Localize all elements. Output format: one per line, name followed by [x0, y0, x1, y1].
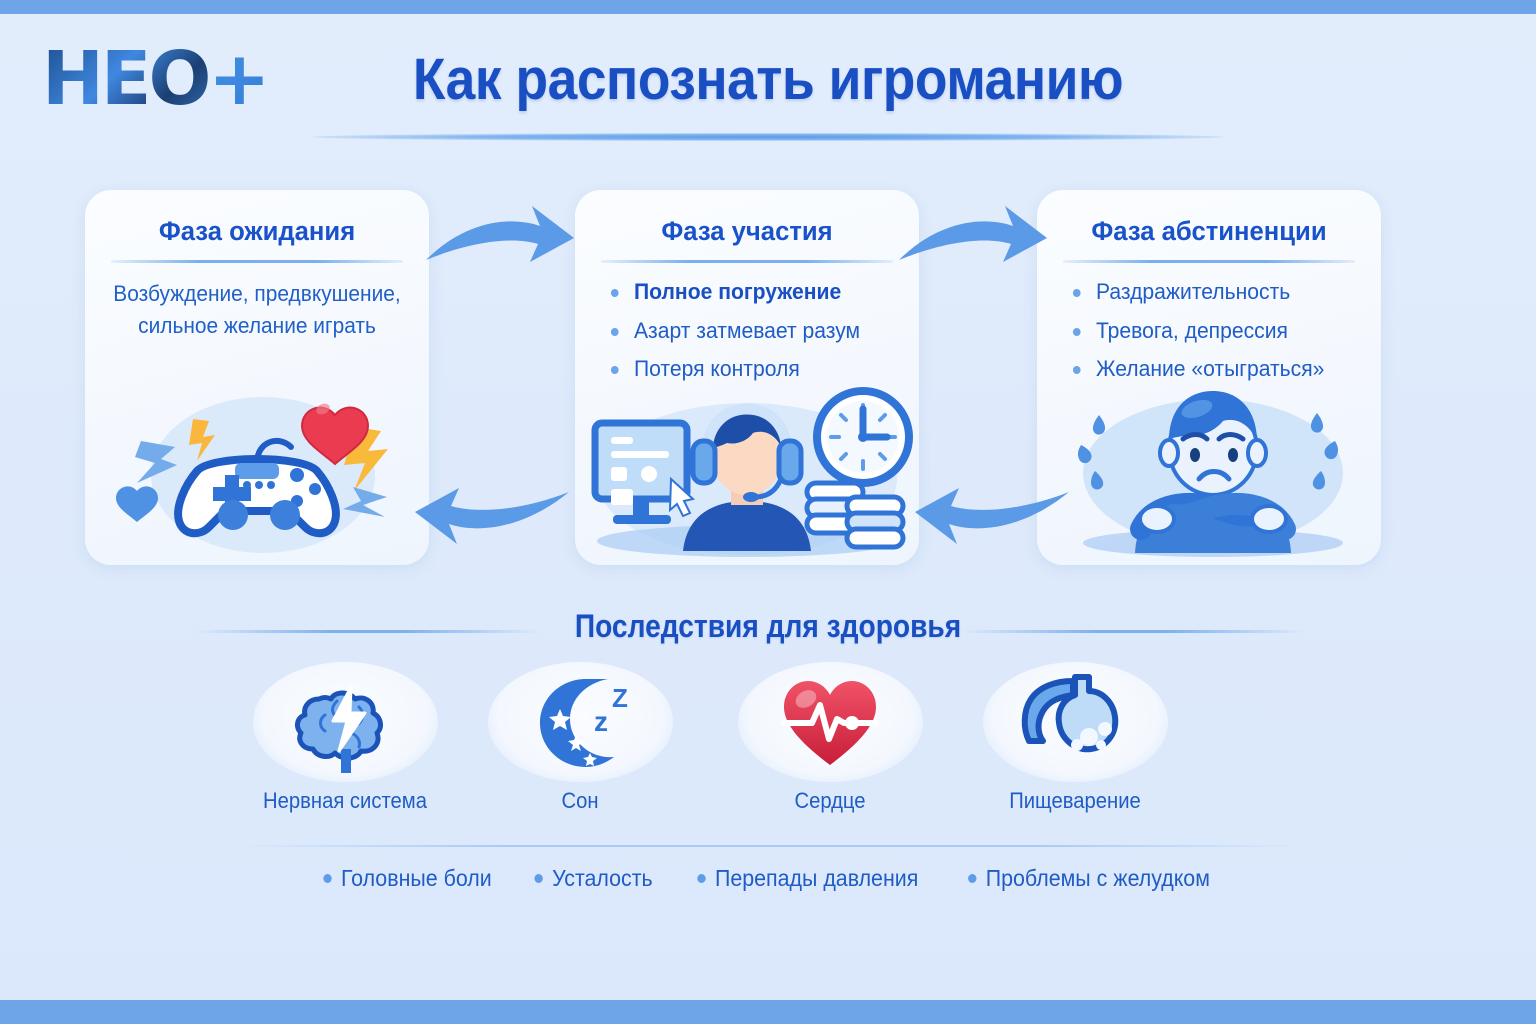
consequence-label: Пищеварение: [965, 788, 1186, 814]
arrow-participation-back-to-anticipation: [405, 472, 575, 557]
symptom-label: Головные боли: [341, 865, 492, 892]
icon-background-blob: [738, 662, 923, 782]
symptom-label: Усталость: [552, 865, 653, 892]
arrow-withdrawal-back-to-participation: [905, 472, 1075, 557]
phase-title-divider: [1063, 260, 1355, 263]
gamer-headset-monitor-clock-coins-illustration: [575, 379, 919, 559]
consequence-label: Сердце: [720, 788, 941, 814]
consequence-label: Сон: [470, 788, 691, 814]
bullet-dot-icon: [611, 328, 619, 336]
bullet-dot-icon: [1073, 289, 1081, 297]
list-item-label: Полное погружение: [634, 279, 841, 304]
consequence-item-heart[interactable]: Сердце: [710, 662, 950, 814]
arrow-participation-to-withdrawal: [893, 198, 1053, 283]
gamepad-hearts-lightning-illustration: [85, 379, 429, 559]
stomach-icon: [1015, 667, 1135, 777]
consequence-label: Нервная система: [235, 788, 456, 814]
bullet-dot-icon: [323, 874, 331, 883]
list-item: Азарт затмевает разум: [609, 317, 887, 346]
list-item-label: Желание «отыграться»: [1096, 356, 1324, 381]
icon-background-blob: z Z: [488, 662, 673, 782]
top-accent-bar: [0, 0, 1536, 14]
phase-body: Возбуждение, предвкушение, сильное желан…: [105, 278, 409, 342]
bullet-dot-icon: [1073, 328, 1081, 336]
heart-ecg-icon: [770, 667, 890, 777]
list-item: Усталость: [535, 865, 653, 892]
svg-text:Z: Z: [612, 683, 628, 713]
list-item-label: Азарт затмевает разум: [634, 318, 860, 343]
phase-title: Фаза абстиненции: [1046, 216, 1373, 247]
list-item-label: Потеря контроля: [634, 356, 800, 381]
phase-bullet-list: Полное погружение Азарт затмевает разум …: [595, 278, 899, 384]
list-item: Проблемы с желудком: [968, 865, 1210, 892]
phase-body: Раздражительность Тревога, депрессия Жел…: [1057, 278, 1361, 394]
bullet-dot-icon: [611, 366, 619, 374]
bullet-dot-icon: [535, 874, 543, 883]
phase-title-divider: [601, 260, 893, 263]
phase-title: Фаза ожидания: [94, 216, 421, 247]
moon-zzz-icon: z Z: [520, 667, 640, 777]
arrow-anticipation-to-participation: [420, 198, 580, 283]
list-item-label: Раздражительность: [1096, 279, 1290, 304]
phase-bullet-list: Раздражительность Тревога, депрессия Жел…: [1057, 278, 1361, 384]
sad-person-crossed-arms-illustration: [1037, 379, 1381, 559]
symptom-label: Перепады давления: [715, 865, 918, 892]
bullet-dot-icon: [968, 874, 976, 883]
consequence-item-sleep[interactable]: z Z Сон: [460, 662, 700, 814]
title-divider: [313, 133, 1223, 141]
consequence-item-nervous-system[interactable]: Нервная система: [225, 662, 465, 814]
phase-card-participation[interactable]: Фаза участия Полное погружение Азарт зат…: [575, 190, 919, 565]
list-item: Раздражительность: [1071, 278, 1349, 307]
icon-background-blob: [983, 662, 1168, 782]
list-item-label: Тревога, депрессия: [1096, 318, 1288, 343]
list-item: Полное погружение: [609, 278, 887, 307]
consequence-item-digestion[interactable]: Пищеварение: [955, 662, 1195, 814]
phase-paragraph: Возбуждение, предвкушение, сильное желан…: [113, 278, 402, 342]
symptom-label: Проблемы с желудком: [986, 865, 1210, 892]
phase-card-withdrawal[interactable]: Фаза абстиненции Раздражительность Трево…: [1037, 190, 1381, 565]
phase-card-anticipation[interactable]: Фаза ожидания Возбуждение, предвкушение,…: [85, 190, 429, 565]
phase-body: Полное погружение Азарт затмевает разум …: [595, 278, 899, 394]
phase-title: Фаза участия: [584, 216, 911, 247]
bullet-dot-icon: [1073, 366, 1081, 374]
symptoms-list: Головные боли Усталость Перепады давлени…: [0, 865, 1536, 892]
consequences-header: Последствия для здоровья: [0, 608, 1536, 652]
brain-lightning-icon: [285, 667, 405, 777]
svg-text:z: z: [594, 706, 608, 737]
phase-title-divider: [111, 260, 403, 263]
symptoms-divider: [238, 845, 1303, 847]
bullet-dot-icon: [611, 289, 619, 297]
list-item: Головные боли: [323, 865, 491, 892]
bullet-dot-icon: [698, 874, 706, 883]
list-item: Перепады давления: [698, 865, 919, 892]
list-item: Тревога, депрессия: [1071, 317, 1349, 346]
section-title: Последствия для здоровья: [92, 608, 1444, 645]
infographic-page: НЕО+ Как распознать игроманию Фаза ожида…: [0, 0, 1536, 1024]
phase-cards: Фаза ожидания Возбуждение, предвкушение,…: [0, 190, 1536, 570]
icon-background-blob: [253, 662, 438, 782]
page-title: Как распознать игроманию: [61, 46, 1474, 113]
consequence-icons: Нервная система z Z Сон: [0, 662, 1536, 842]
bottom-accent-bar: [0, 1000, 1536, 1024]
